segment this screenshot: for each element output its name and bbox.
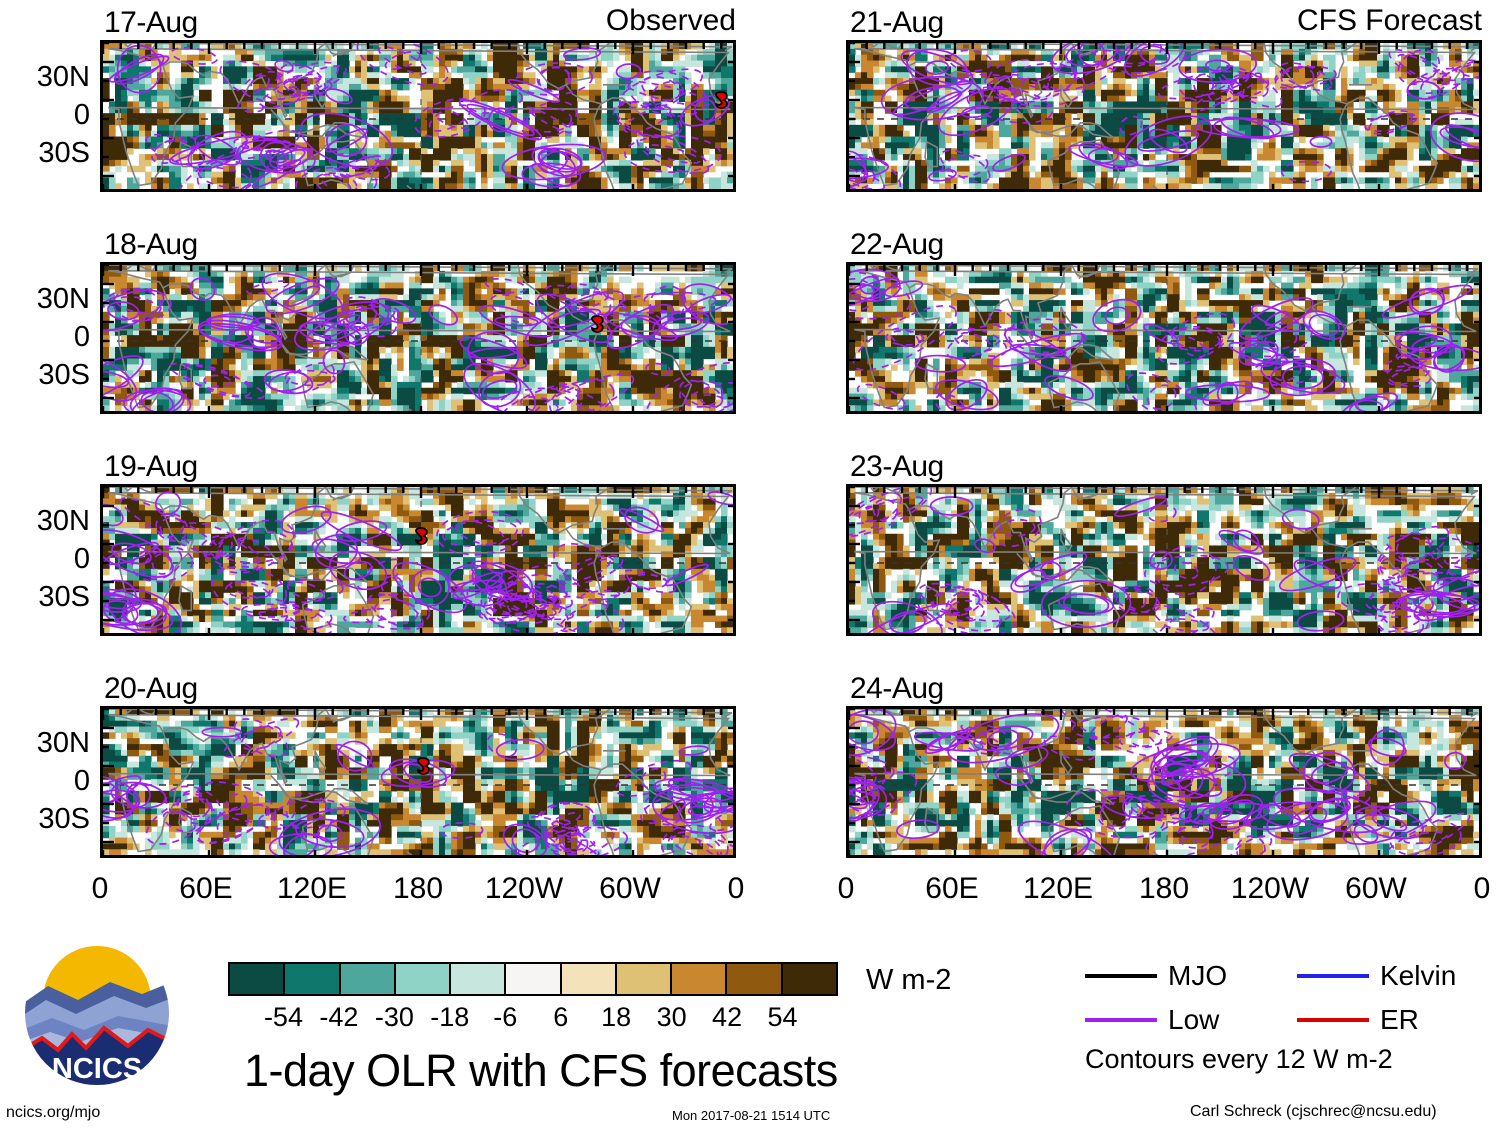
legend-label: MJO: [1168, 962, 1227, 990]
contour-interval-note: Contours every 12 W m-2: [1085, 1046, 1393, 1073]
ncics-logo: NCICS: [22, 938, 172, 1088]
colorbar-tick-label: -30: [375, 1004, 414, 1031]
legend-item-low[interactable]: Low: [1085, 1006, 1219, 1034]
figure-title: 1-day OLR with CFS forecasts: [244, 1048, 838, 1093]
y-tick-label: 30S: [38, 139, 90, 168]
y-tick-label: 0: [74, 545, 90, 574]
legend-line-swatch: [1297, 1018, 1369, 1022]
x-tick-label: 120W: [485, 874, 563, 904]
x-tick-label: 60W: [599, 874, 661, 904]
legend-label: ER: [1380, 1006, 1419, 1034]
panel-date-label: 18-Aug: [104, 230, 198, 260]
x-tick-label: 60E: [925, 874, 978, 904]
axis-ticks: [103, 709, 733, 855]
contour-legend: MJOKelvinLowER: [1085, 962, 1485, 1042]
colorbar-units-label: W m-2: [866, 966, 951, 995]
x-tick-label: 60E: [179, 874, 232, 904]
axis-ticks: [103, 43, 733, 189]
legend-item-mjo[interactable]: MJO: [1085, 962, 1227, 990]
colorbar-swatch: [396, 964, 451, 994]
map-panel[interactable]: [100, 262, 736, 414]
colorbar-swatch: [617, 964, 672, 994]
axis-ticks: [849, 265, 1479, 411]
map-panel[interactable]: [100, 40, 736, 192]
ncics-logo-graphic: NCICS: [22, 938, 172, 1088]
colorbar-swatch: [562, 964, 617, 994]
x-tick-label: 0: [838, 874, 855, 904]
x-tick-label: 0: [92, 874, 109, 904]
x-tick-label: 0: [1474, 874, 1491, 904]
colorbar-tick-label: -6: [493, 1004, 517, 1031]
colorbar-tick-labels: -54-42-30-18-6618304254: [228, 1004, 838, 1034]
y-tick-label: 30N: [37, 63, 90, 92]
legend-item-er[interactable]: ER: [1297, 1006, 1419, 1034]
colorbar-tick-label: 54: [768, 1004, 798, 1031]
colorbar-swatch: [672, 964, 727, 994]
colorbar-swatch: [230, 964, 285, 994]
y-tick-label: 30S: [38, 583, 90, 612]
map-panel[interactable]: [846, 706, 1482, 858]
axis-ticks: [849, 709, 1479, 855]
colorbar-tick-label: -54: [264, 1004, 303, 1031]
panel-date-label: 19-Aug: [104, 452, 198, 482]
panel-date-label: 20-Aug: [104, 674, 198, 704]
legend-item-kelvin[interactable]: Kelvin: [1297, 962, 1456, 990]
x-axis-labels-right: 060E120E180120W60W0: [846, 874, 1482, 908]
map-panel[interactable]: [846, 40, 1482, 192]
x-tick-label: 120E: [1023, 874, 1093, 904]
map-panel[interactable]: [100, 484, 736, 636]
legend-line-swatch: [1297, 974, 1369, 978]
axis-ticks: [849, 487, 1479, 633]
colorbar-swatch: [285, 964, 340, 994]
axis-ticks: [849, 43, 1479, 189]
colorbar-swatch: [341, 964, 396, 994]
colorbar-swatch: [783, 964, 836, 994]
colorbar-tick-label: 6: [553, 1004, 568, 1031]
x-tick-label: 180: [393, 874, 443, 904]
y-tick-label: 0: [74, 101, 90, 130]
y-tick-label: 30S: [38, 805, 90, 834]
map-panel[interactable]: [846, 262, 1482, 414]
y-tick-label: 0: [74, 323, 90, 352]
legend-label: Low: [1168, 1006, 1219, 1034]
y-axis-labels: 30N030S: [0, 706, 90, 858]
colorbar-tick-label: 18: [601, 1004, 631, 1031]
ncics-logo-text: NCICS: [52, 1053, 142, 1085]
y-tick-label: 30S: [38, 361, 90, 390]
colorbar-tick-label: -18: [430, 1004, 469, 1031]
legend-line-swatch: [1085, 974, 1157, 978]
colorbar: [228, 962, 838, 996]
footer-website[interactable]: ncics.org/mjo: [6, 1105, 100, 1121]
x-tick-label: 180: [1139, 874, 1189, 904]
panel-date-label: 22-Aug: [850, 230, 944, 260]
column-header-observed: Observed: [100, 6, 736, 36]
map-panel[interactable]: [846, 484, 1482, 636]
y-axis-labels: 30N030S: [0, 40, 90, 192]
x-tick-label: 0: [728, 874, 745, 904]
y-tick-label: 30N: [37, 507, 90, 536]
x-tick-label: 60W: [1345, 874, 1407, 904]
axis-ticks: [103, 487, 733, 633]
y-tick-label: 30N: [37, 729, 90, 758]
colorbar-swatch: [451, 964, 506, 994]
y-axis-labels: 30N030S: [0, 484, 90, 636]
y-tick-label: 0: [74, 767, 90, 796]
legend-line-swatch: [1085, 1018, 1157, 1022]
colorbar-tick-label: 30: [657, 1004, 687, 1031]
panel-date-label: 23-Aug: [850, 452, 944, 482]
axis-ticks: [103, 265, 733, 411]
y-tick-label: 30N: [37, 285, 90, 314]
footer-author: Carl Schreck (cjschrec@ncsu.edu): [1190, 1104, 1437, 1120]
column-header-forecast: CFS Forecast: [846, 6, 1482, 36]
colorbar-swatch: [727, 964, 782, 994]
x-axis-labels-left: 060E120E180120W60W0: [100, 874, 736, 908]
colorbar-swatch: [506, 964, 561, 994]
x-tick-label: 120W: [1231, 874, 1309, 904]
colorbar-tick-label: 42: [712, 1004, 742, 1031]
panel-date-label: 24-Aug: [850, 674, 944, 704]
legend-label: Kelvin: [1380, 962, 1456, 990]
map-panel[interactable]: [100, 706, 736, 858]
y-axis-labels: 30N030S: [0, 262, 90, 414]
colorbar-tick-label: -42: [319, 1004, 358, 1031]
footer-timestamp: Mon 2017-08-21 1514 UTC: [672, 1108, 830, 1124]
x-tick-label: 120E: [277, 874, 347, 904]
